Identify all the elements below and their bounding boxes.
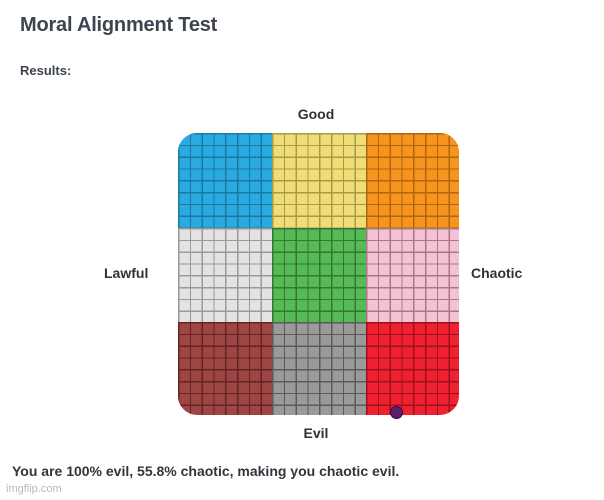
cell-hatch-true-neutral [272, 228, 366, 322]
alignment-grid [178, 133, 459, 415]
alignment-cell-chaotic-good [366, 133, 459, 228]
imgflip-watermark: imgflip.com [6, 483, 62, 495]
cell-hatch-chaotic-evil [366, 322, 459, 415]
cell-hatch-chaotic-neutral [366, 228, 459, 322]
cell-hatch-chaotic-good [366, 133, 459, 228]
alignment-chart: Good Lawful Chaotic Evil [0, 0, 604, 460]
cell-hatch-lawful-neutral [178, 228, 272, 322]
alignment-cell-chaotic-evil [366, 322, 459, 415]
alignment-cell-lawful-neutral [178, 228, 272, 322]
alignment-cell-lawful-good [178, 133, 272, 228]
axis-label-lawful: Lawful [104, 265, 148, 281]
alignment-cell-neutral-evil [272, 322, 366, 415]
alignment-cell-neutral-good [272, 133, 366, 228]
cell-hatch-lawful-evil [178, 322, 272, 415]
result-marker-dot [390, 406, 403, 419]
axis-label-good: Good [14, 106, 604, 122]
cell-hatch-lawful-good [178, 133, 272, 228]
cell-hatch-neutral-good [272, 133, 366, 228]
axis-label-chaotic: Chaotic [471, 265, 522, 281]
alignment-cell-chaotic-neutral [366, 228, 459, 322]
alignment-cell-lawful-evil [178, 322, 272, 415]
alignment-cell-true-neutral [272, 228, 366, 322]
result-sentence: You are 100% evil, 55.8% chaotic, making… [12, 463, 399, 479]
cell-hatch-neutral-evil [272, 322, 366, 415]
axis-label-evil: Evil [14, 425, 604, 441]
